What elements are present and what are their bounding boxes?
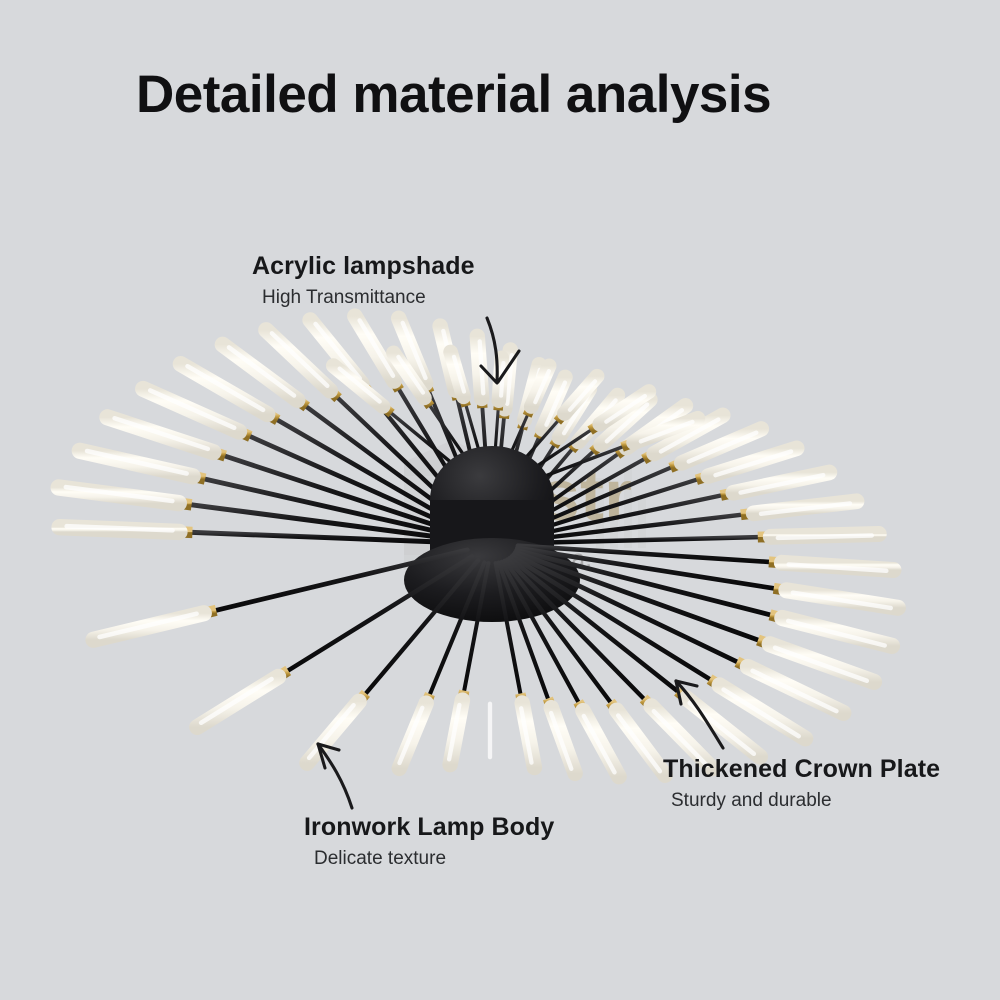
callout-crown-heading: Thickened Crown Plate	[663, 755, 940, 784]
callout-acrylic-lampshade: Acrylic lampshade High Transmittance	[252, 252, 475, 309]
crown-leader-line	[676, 681, 723, 748]
page-title: Detailed material analysis	[136, 64, 771, 125]
callout-acrylic-subtitle: High Transmittance	[262, 287, 475, 309]
ironwork-leader-line	[318, 744, 352, 808]
illustration-canvas: Lustr din casa,	[0, 0, 1000, 1000]
acrylic-arrow-head-right	[498, 351, 519, 382]
callout-ironwork-lamp-body: Ironwork Lamp Body Delicate texture	[304, 813, 554, 870]
callout-acrylic-heading: Acrylic lampshade	[252, 252, 475, 281]
acrylic-arrow-head-left	[481, 366, 497, 383]
callout-thickened-crown-plate: Thickened Crown Plate Sturdy and durable	[663, 755, 940, 812]
callout-ironwork-heading: Ironwork Lamp Body	[304, 813, 554, 842]
callout-crown-subtitle: Sturdy and durable	[671, 790, 940, 812]
callout-ironwork-subtitle: Delicate texture	[314, 848, 554, 870]
